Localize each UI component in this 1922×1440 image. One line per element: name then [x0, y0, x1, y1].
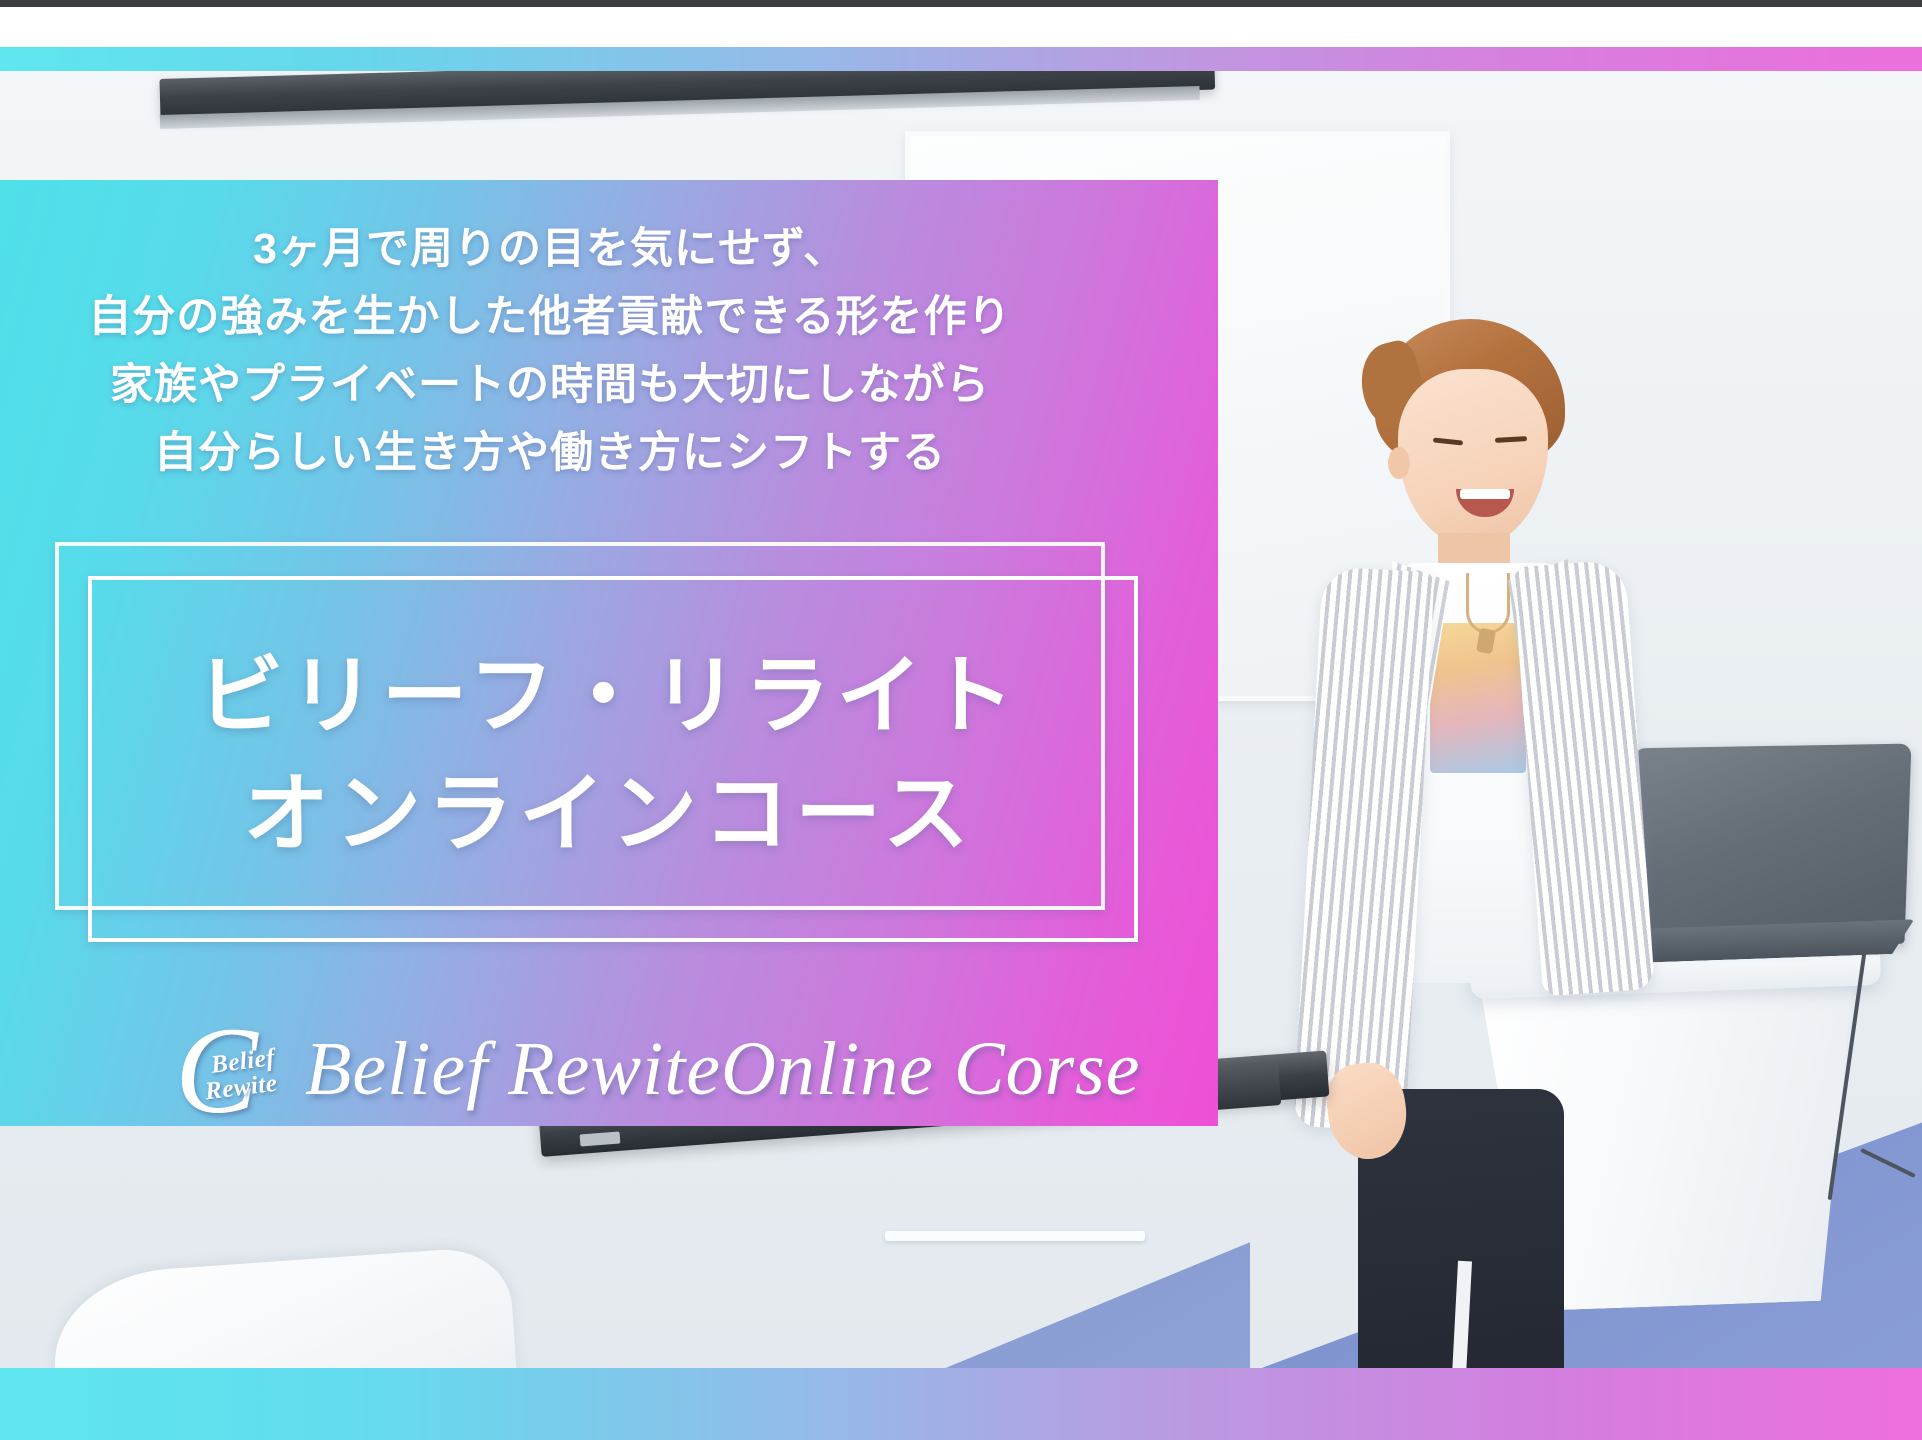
window-top-edge [0, 0, 1922, 7]
presenter-teeth [1460, 489, 1510, 499]
presenter-necklace [1466, 573, 1510, 634]
presenter-ear [1388, 447, 1410, 479]
accent-bar-bottom [0, 1368, 1922, 1440]
top-white-band [0, 7, 1922, 47]
headline: 3ヶ月で周りの目を気にせず、 自分の強みを生かした他者貢献できる形を作り 家族や… [0, 215, 1100, 487]
headline-line-1: 3ヶ月で周りの目を気にせず、 [0, 215, 1100, 283]
headline-line-3: 家族やプライベートの時間も大切にしながら [0, 351, 1100, 419]
headline-line-4: 自分らしい生き方や働き方にシフトする [0, 419, 1100, 487]
belief-rewite-monogram-icon: C Belief Rewite [175, 1017, 287, 1121]
headline-line-2: 自分の強みを生かした他者貢献できる形を作り [0, 283, 1100, 351]
presenter-face [1398, 369, 1548, 547]
laptop-screen [1627, 743, 1912, 948]
presenter-photo [1270, 251, 1630, 1361]
slide-canvas: 3ヶ月で周りの目を気にせず、 自分の強みを生かした他者貢献できる形を作り 家族や… [0, 0, 1922, 1440]
brand-wordmark: Belief RewiteOnline Corse [305, 1031, 1140, 1107]
presenter-jacket-left [1293, 566, 1434, 1131]
whiteboard-tray [885, 1231, 1145, 1241]
accent-bar-top [0, 47, 1922, 71]
brand-lockup: C Belief Rewite Belief RewiteOnline Cors… [175, 1015, 1185, 1123]
title-frame-inner [88, 576, 1138, 942]
